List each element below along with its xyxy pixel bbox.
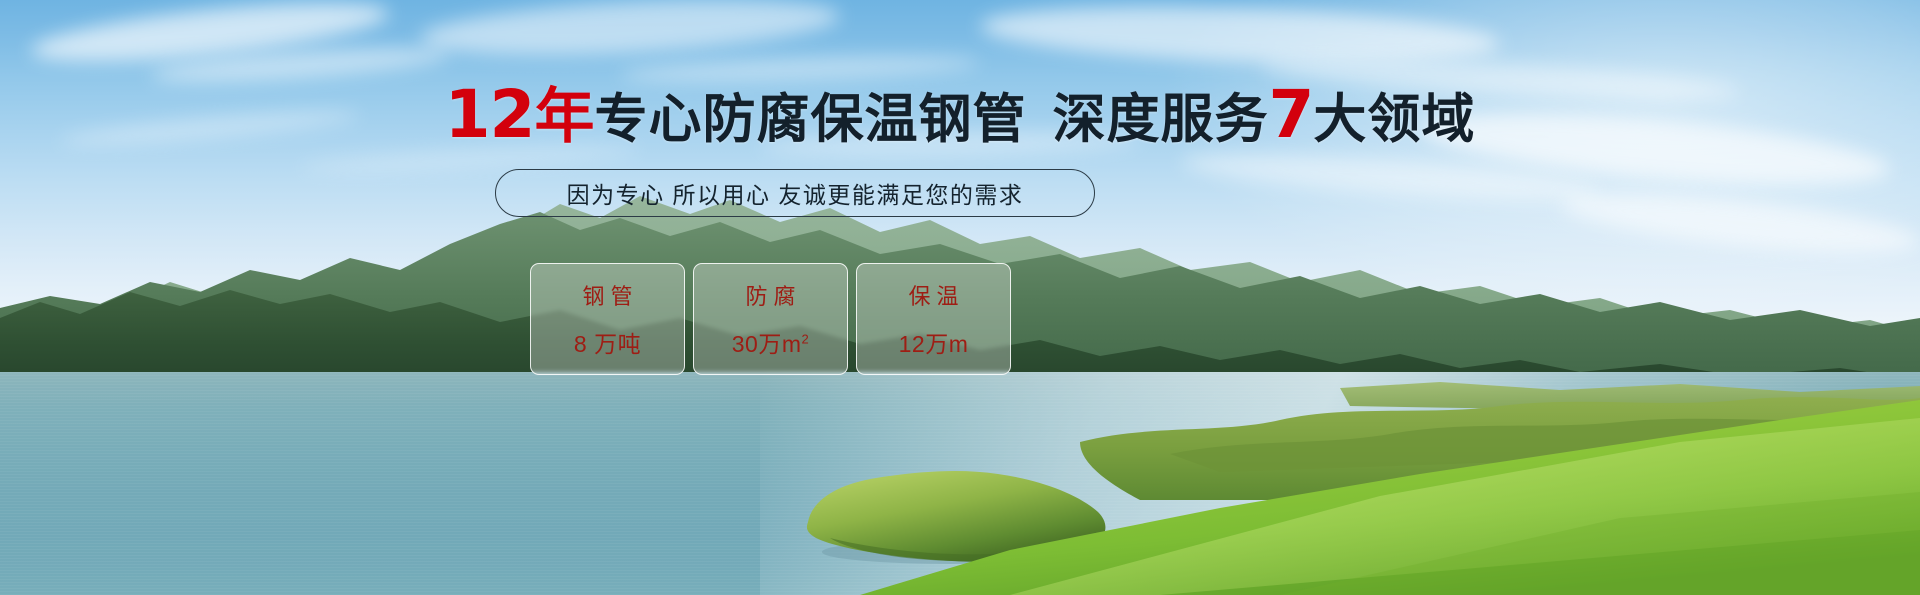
headline-main-text: 专心防腐保温钢管	[594, 90, 1026, 149]
stat-card-value: 8 万吨	[574, 325, 641, 359]
headline-fields-text: 大领域	[1313, 90, 1475, 149]
stat-card-group: 钢管 8 万吨 防腐 30万m2 保温 12万m	[530, 263, 1011, 375]
stat-card-steel-pipe: 钢管 8 万吨	[530, 263, 685, 375]
headline-fields-number: 7	[1268, 76, 1313, 153]
headline-years-number: 12	[445, 76, 535, 153]
headline-years-unit: 年	[534, 83, 594, 150]
stat-card-value: 12万m	[899, 325, 969, 359]
stat-card-label: 保温	[902, 279, 964, 311]
stat-card-value: 30万m2	[732, 325, 809, 359]
subtitle-pill: 因为专心 所以用心 友诚更能满足您的需求	[495, 169, 1095, 217]
stat-card-anticorrosion: 防腐 30万m2	[693, 263, 848, 375]
stat-card-unit-sup: 2	[802, 331, 810, 346]
page-title: 12年专心防腐保温钢管深度服务7大领域	[0, 84, 1920, 151]
stat-card-insulation: 保温 12万m	[856, 263, 1011, 375]
headline-service-text: 深度服务	[1052, 90, 1268, 149]
stat-card-label: 钢管	[576, 279, 638, 311]
grass-field	[860, 400, 1920, 595]
stat-card-label: 防腐	[739, 279, 801, 311]
promo-banner: 12年专心防腐保温钢管深度服务7大领域 因为专心 所以用心 友诚更能满足您的需求…	[0, 0, 1920, 595]
subtitle-text: 因为专心 所以用心 友诚更能满足您的需求	[567, 176, 1024, 210]
